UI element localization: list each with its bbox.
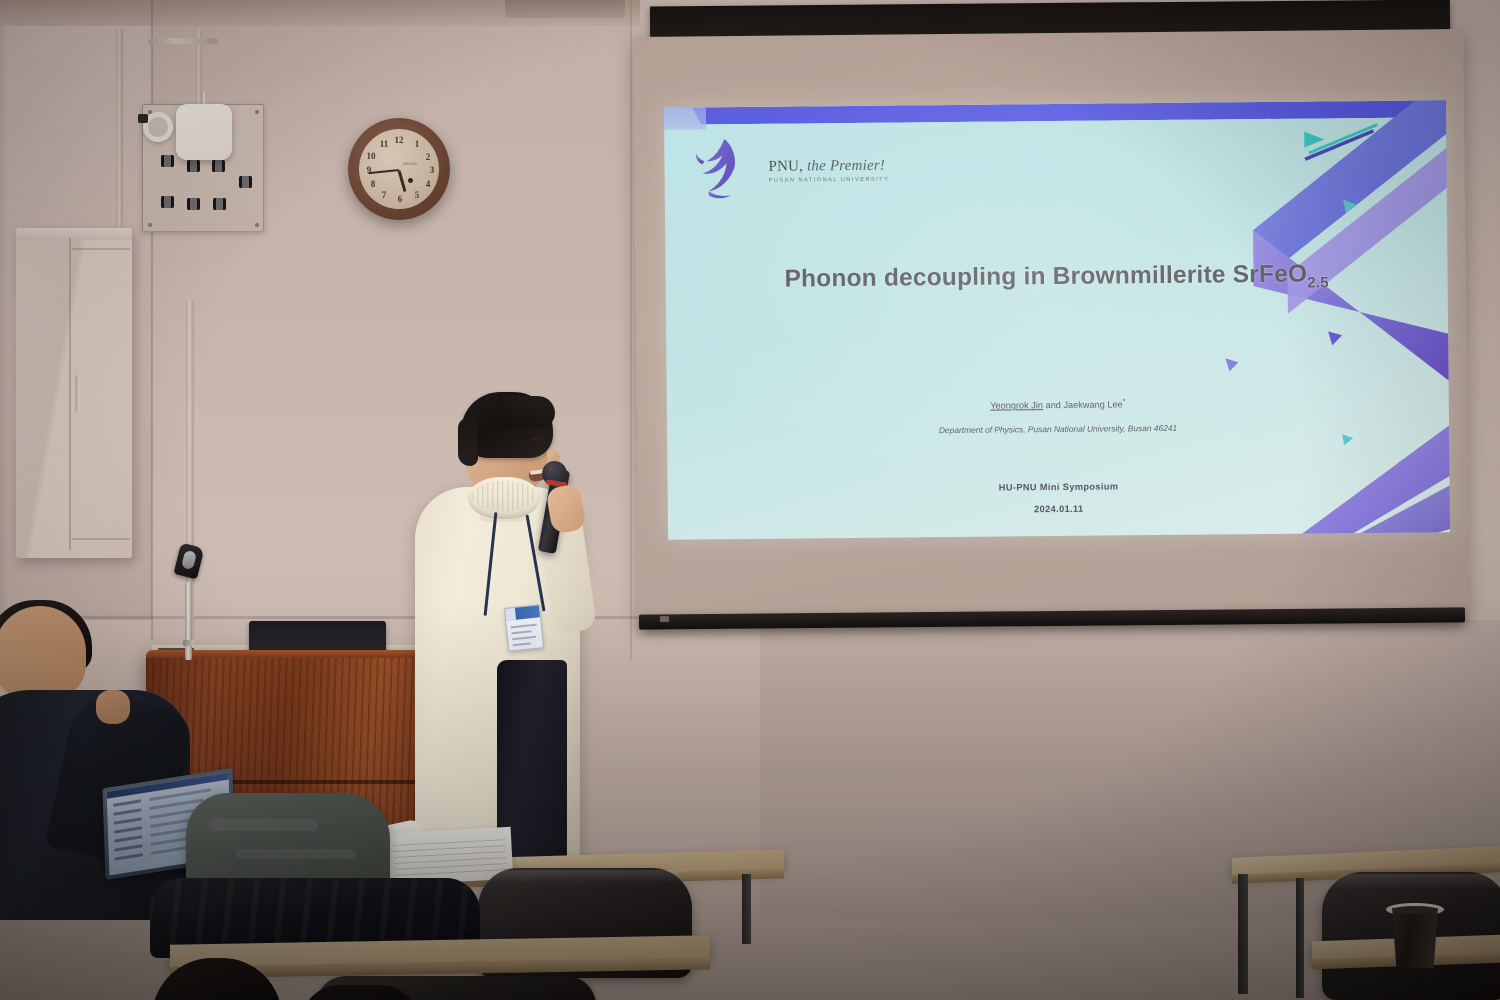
clock-numeral: 4: [422, 179, 434, 189]
utility-cabinet-top: [16, 228, 132, 240]
chevron-ribbon-svg: [1126, 100, 1450, 539]
clock-numeral: 10: [365, 151, 377, 161]
clock-numeral: 7: [378, 190, 390, 200]
badge-text-line: [511, 630, 531, 634]
jacket-fold: [208, 819, 318, 831]
pnu-logo-text: PNU, the Premier! PUSAN NATIONAL UNIVERS…: [768, 158, 889, 184]
mount-bolt-icon: [213, 198, 226, 210]
clock-face: 12 1 2 3 4 5 6 7 8 9 10 11 SEIKO: [359, 129, 439, 209]
mount-bolt-icon: [161, 196, 174, 208]
clock-numeral: 6: [394, 194, 406, 204]
projected-slide: PNU, the Premier! PUSAN NATIONAL UNIVERS…: [664, 100, 1450, 539]
wall-conduit: [148, 38, 218, 44]
coffee-cup: [1389, 908, 1441, 968]
coffee-cup-opening: [1392, 906, 1438, 914]
mount-bolt-icon: [212, 160, 225, 172]
author-presenting: Yeongrok Jin: [990, 400, 1043, 411]
clock-numeral: 5: [411, 190, 423, 200]
cabinet-door-seam: [69, 238, 71, 550]
microphone-stand-pole[interactable]: [185, 582, 192, 660]
desk-leg: [1238, 874, 1248, 994]
slide-top-accent-tab: [664, 107, 706, 129]
ap-connector: [138, 114, 148, 123]
pnu-logo-subtitle: PUSAN NATIONAL UNIVERSITY: [769, 177, 890, 184]
pnu-phoenix-icon: [694, 137, 757, 202]
pnu-brand-line: PNU, the Premier!: [768, 158, 889, 176]
laptop-content-row: [115, 853, 143, 860]
badge-text-line: [512, 636, 536, 640]
clock-numeral: 8: [367, 179, 379, 189]
screen-pull-tab[interactable]: [660, 616, 669, 622]
audience-member-head: [0, 606, 86, 702]
laptop-content-row: [115, 844, 143, 851]
desk-leg: [1296, 878, 1304, 998]
cabinet-panel-line: [72, 248, 130, 250]
badge-text-line: [511, 624, 537, 629]
clock-numeral: 11: [378, 139, 390, 149]
mount-bolt-icon: [187, 198, 200, 210]
wireless-access-point: [176, 104, 232, 160]
ceiling-vent: [505, 0, 625, 18]
slide-title-subscript: 2.5: [1307, 274, 1329, 291]
mount-bolt-icon: [187, 160, 200, 172]
slide-chevron-decoration: [1126, 100, 1450, 539]
mount-bolt-icon: [161, 155, 174, 167]
lecture-hall-photo: 12 1 2 3 4 5 6 7 8 9 10 11 SEIKO: [0, 0, 1500, 1000]
laptop-content-row: [114, 826, 142, 833]
microphone-stand-collar: [183, 640, 194, 646]
badge-text-line: [513, 642, 531, 646]
laptop-content-row: [113, 808, 141, 815]
cabinet-panel-line: [72, 538, 130, 540]
pnu-brand-italic: the Premier!: [803, 158, 885, 175]
wall-seam: [630, 0, 632, 660]
wall-seam: [151, 0, 153, 640]
clock-brand-text: SEIKO: [391, 161, 429, 167]
audience-member-hand: [96, 690, 130, 724]
jacket-fold: [236, 849, 356, 859]
clock-numeral: 1: [411, 139, 423, 149]
laptop-content-row: [114, 817, 142, 824]
wall-clock: 12 1 2 3 4 5 6 7 8 9 10 11 SEIKO: [348, 118, 450, 220]
badge-corner: [505, 608, 516, 621]
cabinet-handle[interactable]: [75, 375, 80, 413]
clock-hub: [408, 178, 413, 183]
pnu-logo: PNU, the Premier! PUSAN NATIONAL UNIVERS…: [694, 136, 875, 202]
clock-hour-hand: [398, 170, 407, 192]
chair-highlight: [1330, 874, 1500, 890]
chair-highlight: [486, 870, 684, 884]
utility-cabinet[interactable]: [16, 228, 132, 558]
mount-bolt-icon: [239, 176, 252, 188]
presenter-hair-fringe: [505, 396, 555, 428]
laptop-content-row: [114, 835, 142, 842]
slide-title-main: Phonon decoupling in Brownmillerite SrFe…: [784, 261, 1307, 293]
wall-conduit: [116, 28, 123, 228]
laptop-content-row: [113, 799, 141, 806]
corresponding-author-marker: *: [1123, 398, 1126, 405]
clock-numeral: 12: [393, 135, 405, 145]
pnu-brand-lead: PNU,: [768, 158, 803, 174]
desk-leg: [742, 874, 751, 944]
name-badge: [504, 604, 544, 652]
presenter-collar-ribbing: [472, 481, 536, 511]
presenter-hair-side: [458, 418, 478, 466]
author-rest: and Jaekwang Lee: [1043, 399, 1123, 410]
